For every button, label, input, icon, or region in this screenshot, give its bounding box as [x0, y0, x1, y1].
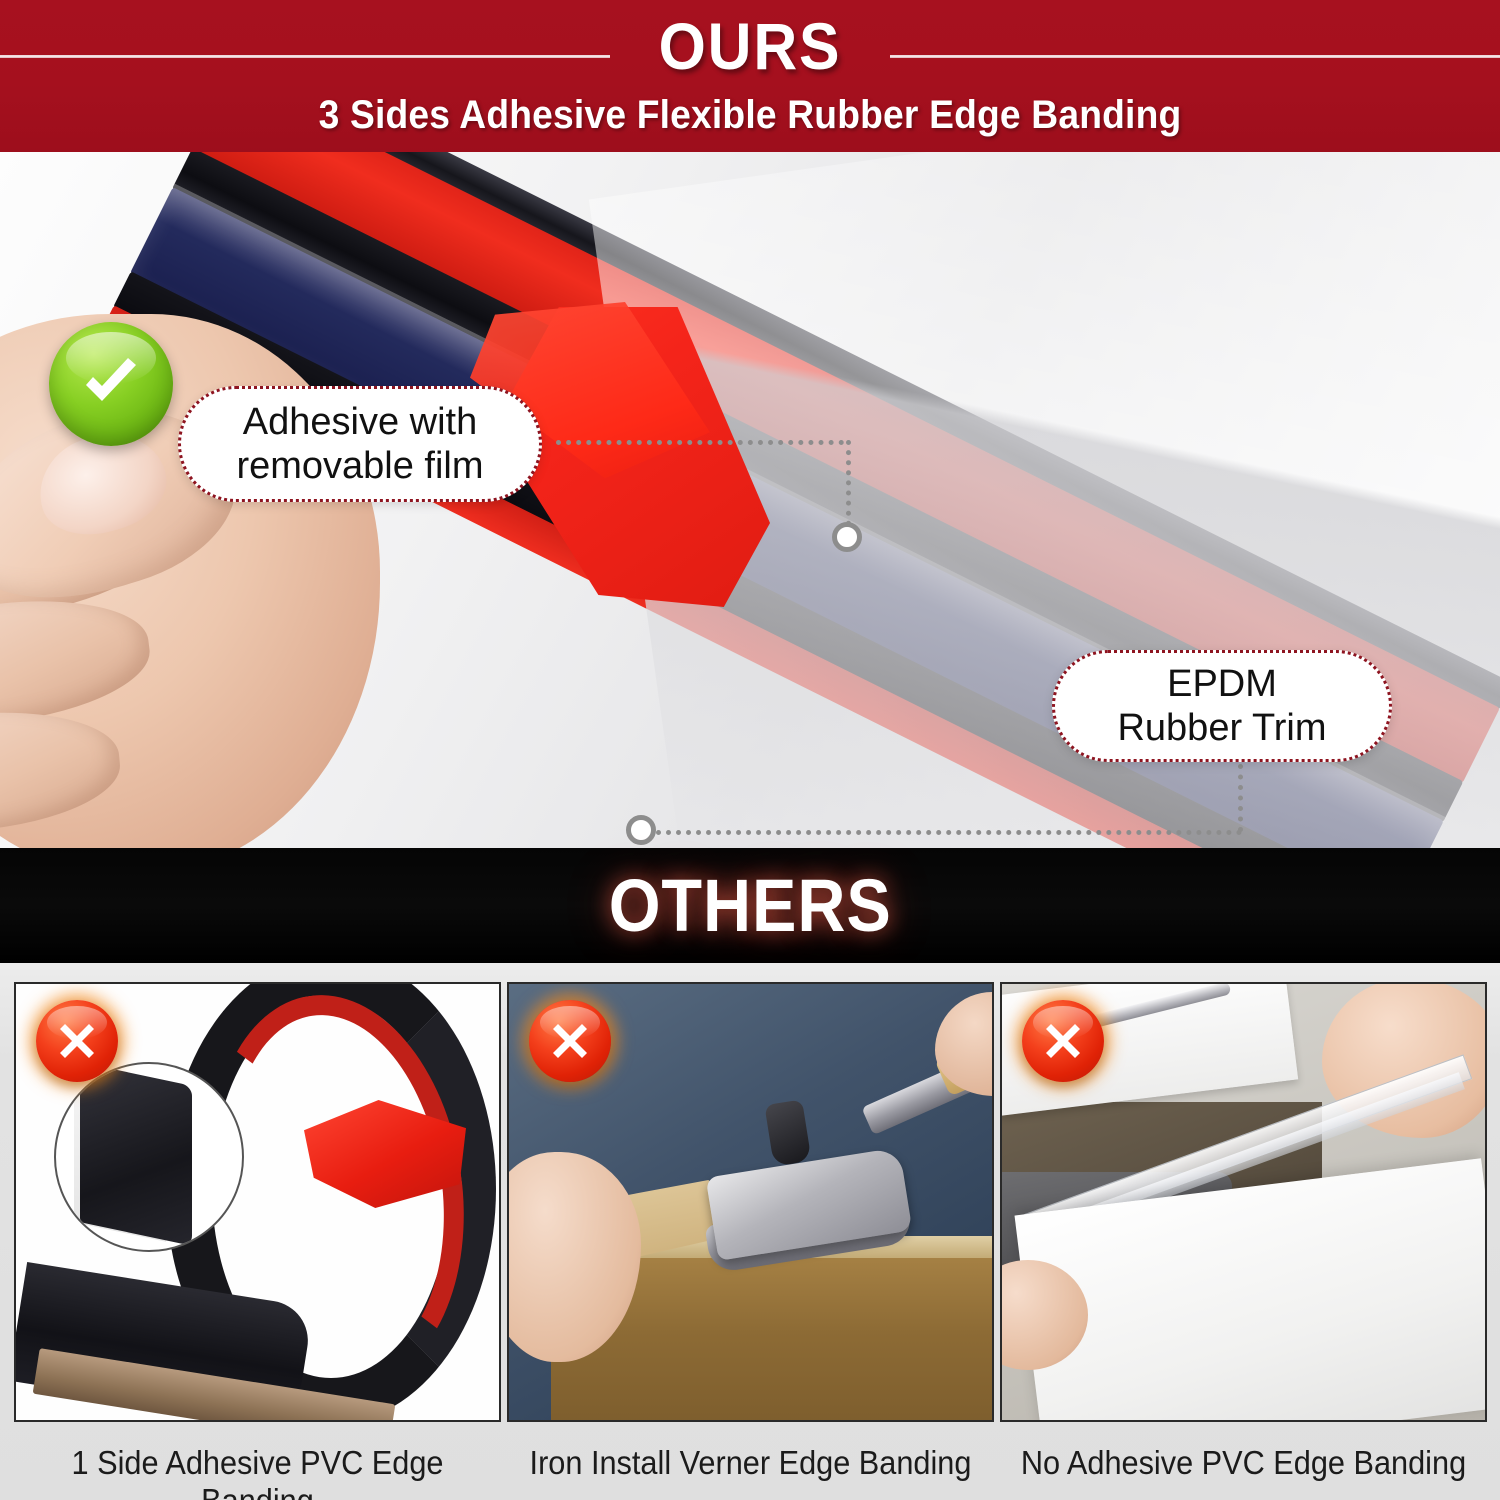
others-panel-2-photo	[507, 982, 994, 1422]
callout-adhesive-line2: removable film	[236, 445, 483, 487]
others-panel-1-caption: 1 Side Adhesive PVC Edge Banding	[31, 1444, 484, 1500]
others-panel-3-caption: No Adhesive PVC Edge Banding	[1017, 1444, 1470, 1482]
hero-product-photo: Adhesive with removable film EPDM Rubber…	[0, 152, 1500, 848]
marker-dot-epdm	[626, 815, 656, 845]
callout-adhesive-line1: Adhesive with	[243, 401, 477, 443]
others-panel-3-photo	[1000, 982, 1487, 1422]
others-panel-grid: 1 Side Adhesive PVC Edge Banding	[0, 963, 1500, 1500]
others-banner: OTHERS	[0, 848, 1500, 963]
check-circle-icon	[49, 322, 173, 446]
others-panel-3: No Adhesive PVC Edge Banding	[1000, 982, 1487, 1422]
edge-banding-iron-knob	[764, 1099, 811, 1166]
others-panel-1-photo	[14, 982, 501, 1422]
infographic-root: OURS 3 Sides Adhesive Flexible Rubber Ed…	[0, 0, 1500, 1500]
leader-line-epdm-horizontal	[656, 830, 1242, 835]
others-panel-2: Iron Install Verner Edge Banding	[507, 982, 994, 1422]
finger-ring	[0, 702, 125, 843]
inset-black-edge-profile	[80, 1062, 192, 1246]
callout-epdm-line2: Rubber Trim	[1117, 707, 1326, 749]
ours-banner: OURS 3 Sides Adhesive Flexible Rubber Ed…	[0, 0, 1500, 152]
leader-line-adhesive-horizontal	[556, 440, 844, 445]
callout-adhesive-with-removable-film: Adhesive with removable film	[178, 386, 542, 502]
x-circle-icon	[1022, 1000, 1104, 1082]
others-panel-1: 1 Side Adhesive PVC Edge Banding	[14, 982, 501, 1422]
x-circle-icon	[36, 1000, 118, 1082]
callout-epdm-rubber-trim: EPDM Rubber Trim	[1052, 650, 1392, 762]
marker-dot-adhesive	[832, 522, 862, 552]
ours-title: OURS	[60, 8, 1440, 84]
x-circle-icon	[529, 1000, 611, 1082]
inset-detail-circle	[54, 1062, 244, 1252]
others-panel-2-caption: Iron Install Verner Edge Banding	[524, 1444, 977, 1482]
others-title: OTHERS	[609, 863, 892, 948]
callout-epdm-line1: EPDM	[1167, 663, 1277, 705]
ours-subtitle: 3 Sides Adhesive Flexible Rubber Edge Ba…	[53, 93, 1448, 138]
leader-line-epdm-vertical	[1238, 764, 1243, 832]
